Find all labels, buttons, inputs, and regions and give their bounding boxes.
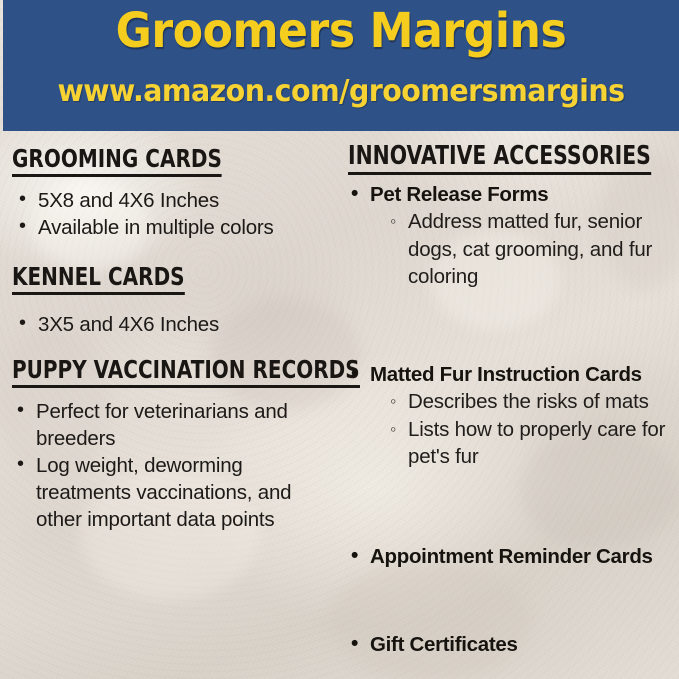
topic-title: Matted Fur Instruction Cards [348,361,679,388]
topic-title: Appointment Reminder Cards [348,543,679,570]
section-heading-grooming-cards: GROOMING CARDS [12,145,274,177]
list-item: 5X8 and 4X6 Inches [16,187,340,214]
store-url[interactable]: www.amazon.com/groomersmargins [20,73,662,111]
topic-matted-fur-instruction-cards: Matted Fur Instruction Cards Describes t… [348,361,679,471]
topic-title: Pet Release Forms [348,181,679,208]
product-infographic-poster: Groomers Margins www.amazon.com/groomers… [0,0,679,679]
list-item: Describes the risks of mats [348,388,679,416]
topic-pet-release-forms: Pet Release Forms Address matted fur, se… [348,181,679,291]
grooming-cards-bullet-list: 5X8 and 4X6 Inches Available in multiple… [16,187,340,241]
list-item: Perfect for veterinarians and breeders [14,398,340,452]
page-title: Groomers Margins [30,1,652,61]
topic-appointment-reminder-cards: Appointment Reminder Cards [348,543,679,570]
section-heading-innovative-accessories: INNOVATIVE ACCESSORIES [348,143,679,175]
list-item: Log weight, deworming treatments vaccina… [14,452,340,533]
kennel-cards-bullet-list: 3X5 and 4X6 Inches [16,311,340,338]
sub-bullet-list: Address matted fur, senior dogs, cat gro… [348,208,679,291]
header-banner: Groomers Margins www.amazon.com/groomers… [3,0,679,131]
list-item: 3X5 and 4X6 Inches [16,311,340,338]
sub-bullet-list: Describes the risks of mats Lists how to… [348,388,679,471]
list-item: Available in multiple colors [16,214,340,241]
list-item: Address matted fur, senior dogs, cat gro… [348,208,679,291]
topic-gift-certificates: Gift Certificates [348,631,679,658]
puppy-vaccination-bullet-list: Perfect for veterinarians and breeders L… [14,398,340,533]
topic-title: Gift Certificates [348,631,679,658]
list-item: Lists how to properly care for pet's fur [348,416,679,471]
poster-content: GROOMING CARDS 5X8 and 4X6 Inches Availa… [0,131,679,679]
section-heading-kennel-cards: KENNEL CARDS [12,263,228,295]
